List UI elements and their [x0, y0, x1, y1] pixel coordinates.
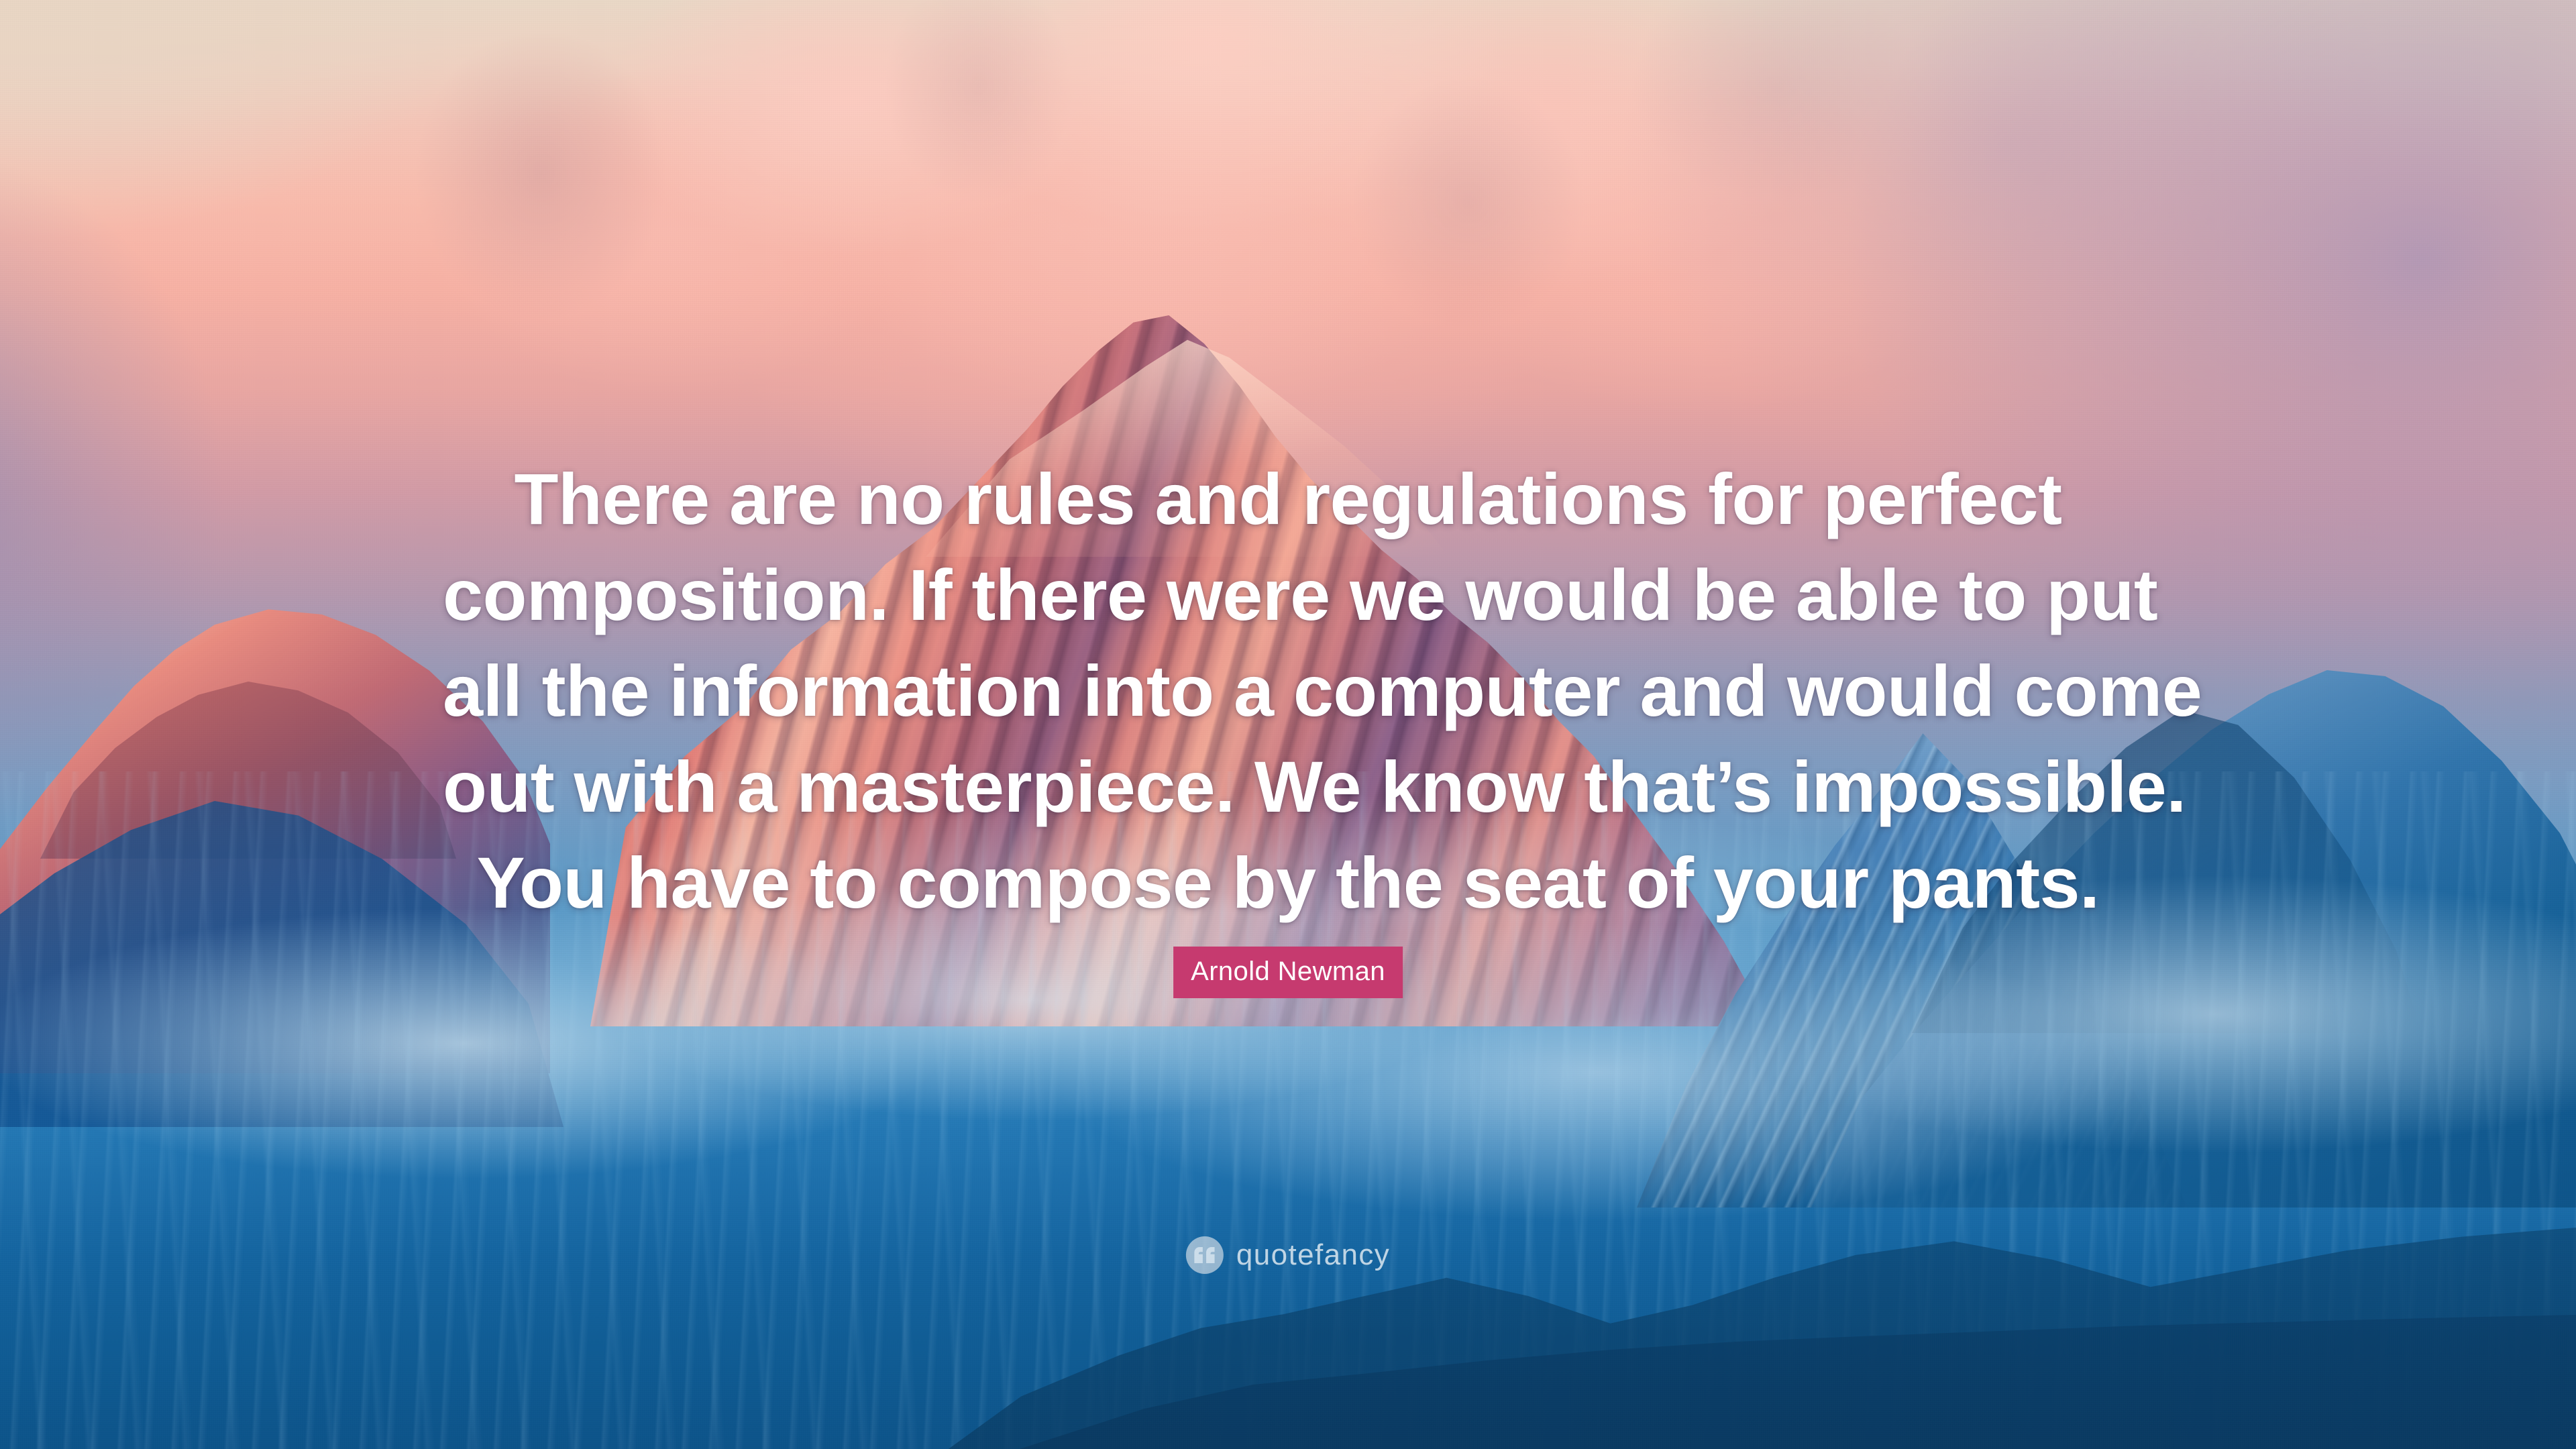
quote-mark-icon — [1186, 1236, 1224, 1274]
quote-line: There are no rules and regulations for p… — [443, 451, 2133, 547]
quote-wallpaper: There are no rules and regulations for p… — [0, 0, 2576, 1449]
quote-line: all the information into a computer and … — [443, 643, 2133, 739]
quotefancy-watermark[interactable]: quotefancy — [1186, 1236, 1390, 1274]
quote-line: You have to compose by the seat of your … — [443, 835, 2133, 930]
author-attribution-badge: Arnold Newman — [1173, 947, 1403, 998]
quote-text-block: There are no rules and regulations for p… — [443, 451, 2133, 930]
overlay-content: There are no rules and regulations for p… — [0, 0, 2576, 1449]
quotefancy-brand-label: quotefancy — [1236, 1240, 1390, 1270]
quote-line: composition. If there were we would be a… — [443, 547, 2133, 643]
quote-line: out with a masterpiece. We know that’s i… — [443, 739, 2133, 835]
